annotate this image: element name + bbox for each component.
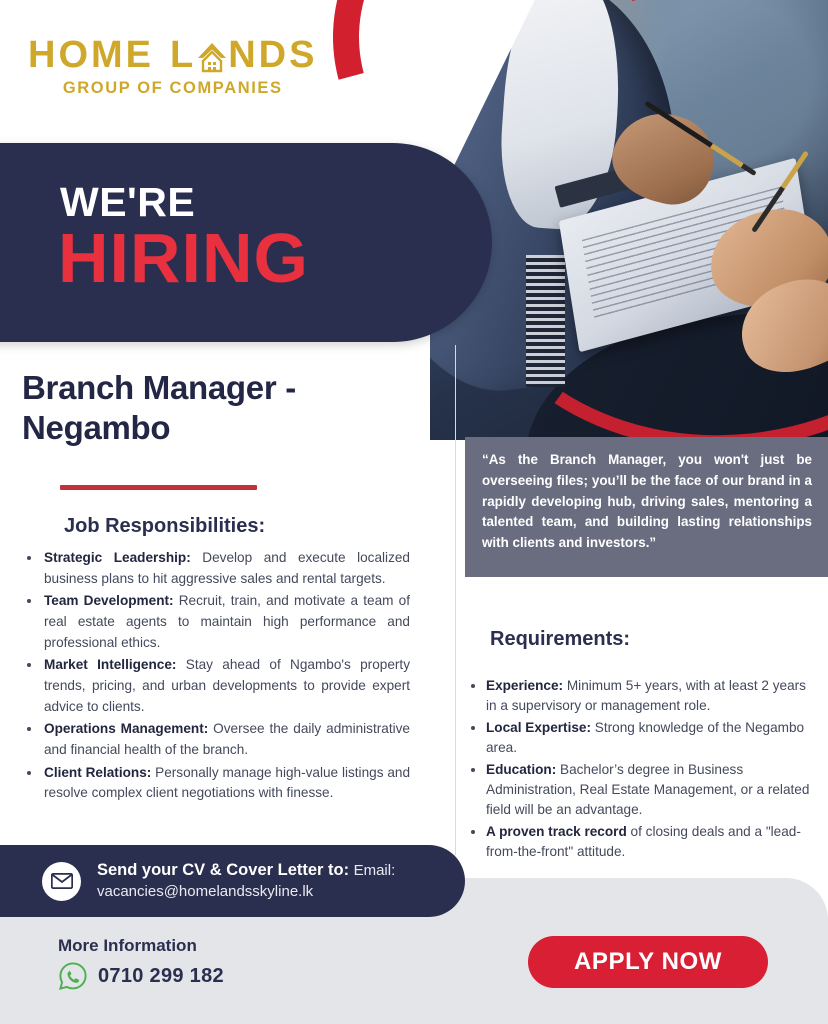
whatsapp-icon [58, 961, 88, 991]
envelope-icon [42, 862, 81, 901]
logo-letter-l: L [170, 36, 196, 74]
cv-submission-banner: Send your CV & Cover Letter to: Email: v… [0, 845, 465, 917]
quote-callout: “As the Branch Manager, you won't just b… [465, 437, 828, 577]
responsibility-item: Strategic Leadership: Develop and execut… [42, 548, 410, 589]
requirement-item-label: Experience: [486, 678, 563, 693]
page-title: Branch Manager - Negambo [22, 368, 432, 449]
title-underline-rule [60, 485, 257, 490]
logo-tagline: GROUP OF COMPANIES [28, 79, 317, 98]
responsibilities-heading: Job Responsibilities: [64, 515, 265, 538]
apply-now-button[interactable]: APPLY NOW [528, 936, 768, 988]
hiring-label: HIRING [58, 223, 309, 293]
requirement-item-label: A proven track record [486, 824, 627, 839]
logo-wordmark: HOME L NDS [28, 36, 317, 74]
hiring-banner: WE'RE HIRING [0, 143, 492, 342]
logo-text-nds: NDS [228, 36, 317, 74]
cv-instruction-label: Send your CV & Cover Letter to: [97, 861, 349, 879]
responsibility-item-label: Client Relations: [44, 765, 151, 780]
company-logo: HOME L NDS GROUP OF COMPANIES [28, 36, 317, 98]
house-roof-icon [197, 38, 227, 72]
quote-text: “As the Branch Manager, you won't just b… [482, 450, 812, 554]
responsibilities-list: Strategic Leadership: Develop and execut… [22, 548, 410, 806]
more-information-label: More Information [58, 936, 197, 956]
logo-text-ome: OME [58, 36, 154, 74]
column-divider [455, 345, 456, 855]
responsibility-item: Market Intelligence: Stay ahead of Ngamb… [42, 655, 410, 717]
contact-phone-row[interactable]: 0710 299 182 [58, 961, 224, 991]
responsibility-item: Operations Management: Oversee the daily… [42, 719, 410, 760]
requirement-item: Education: Bachelor’s degree in Business… [486, 760, 818, 821]
requirement-item-label: Education: [486, 762, 556, 777]
phone-number: 0710 299 182 [98, 965, 224, 988]
requirements-list: Experience: Minimum 5+ years, with at le… [466, 676, 818, 864]
responsibility-item-label: Operations Management: [44, 721, 208, 736]
responsibility-item-label: Team Development: [44, 593, 174, 608]
requirements-heading: Requirements: [490, 628, 630, 651]
requirement-item: Experience: Minimum 5+ years, with at le… [486, 676, 818, 717]
responsibility-item-label: Market Intelligence: [44, 657, 176, 672]
responsibility-item-label: Strategic Leadership: [44, 550, 191, 565]
requirement-item: Local Expertise: Strong knowledge of the… [486, 718, 818, 759]
job-poster: HOME L NDS GROUP OF COMPANIES WE'RE HIRI… [0, 0, 828, 1024]
responsibility-item: Team Development: Recruit, train, and mo… [42, 591, 410, 653]
requirement-item-label: Local Expertise: [486, 720, 591, 735]
logo-letter-h: H [28, 36, 58, 74]
responsibility-item: Client Relations: Personally manage high… [42, 763, 410, 804]
requirement-item: A proven track record of closing deals a… [486, 822, 818, 863]
